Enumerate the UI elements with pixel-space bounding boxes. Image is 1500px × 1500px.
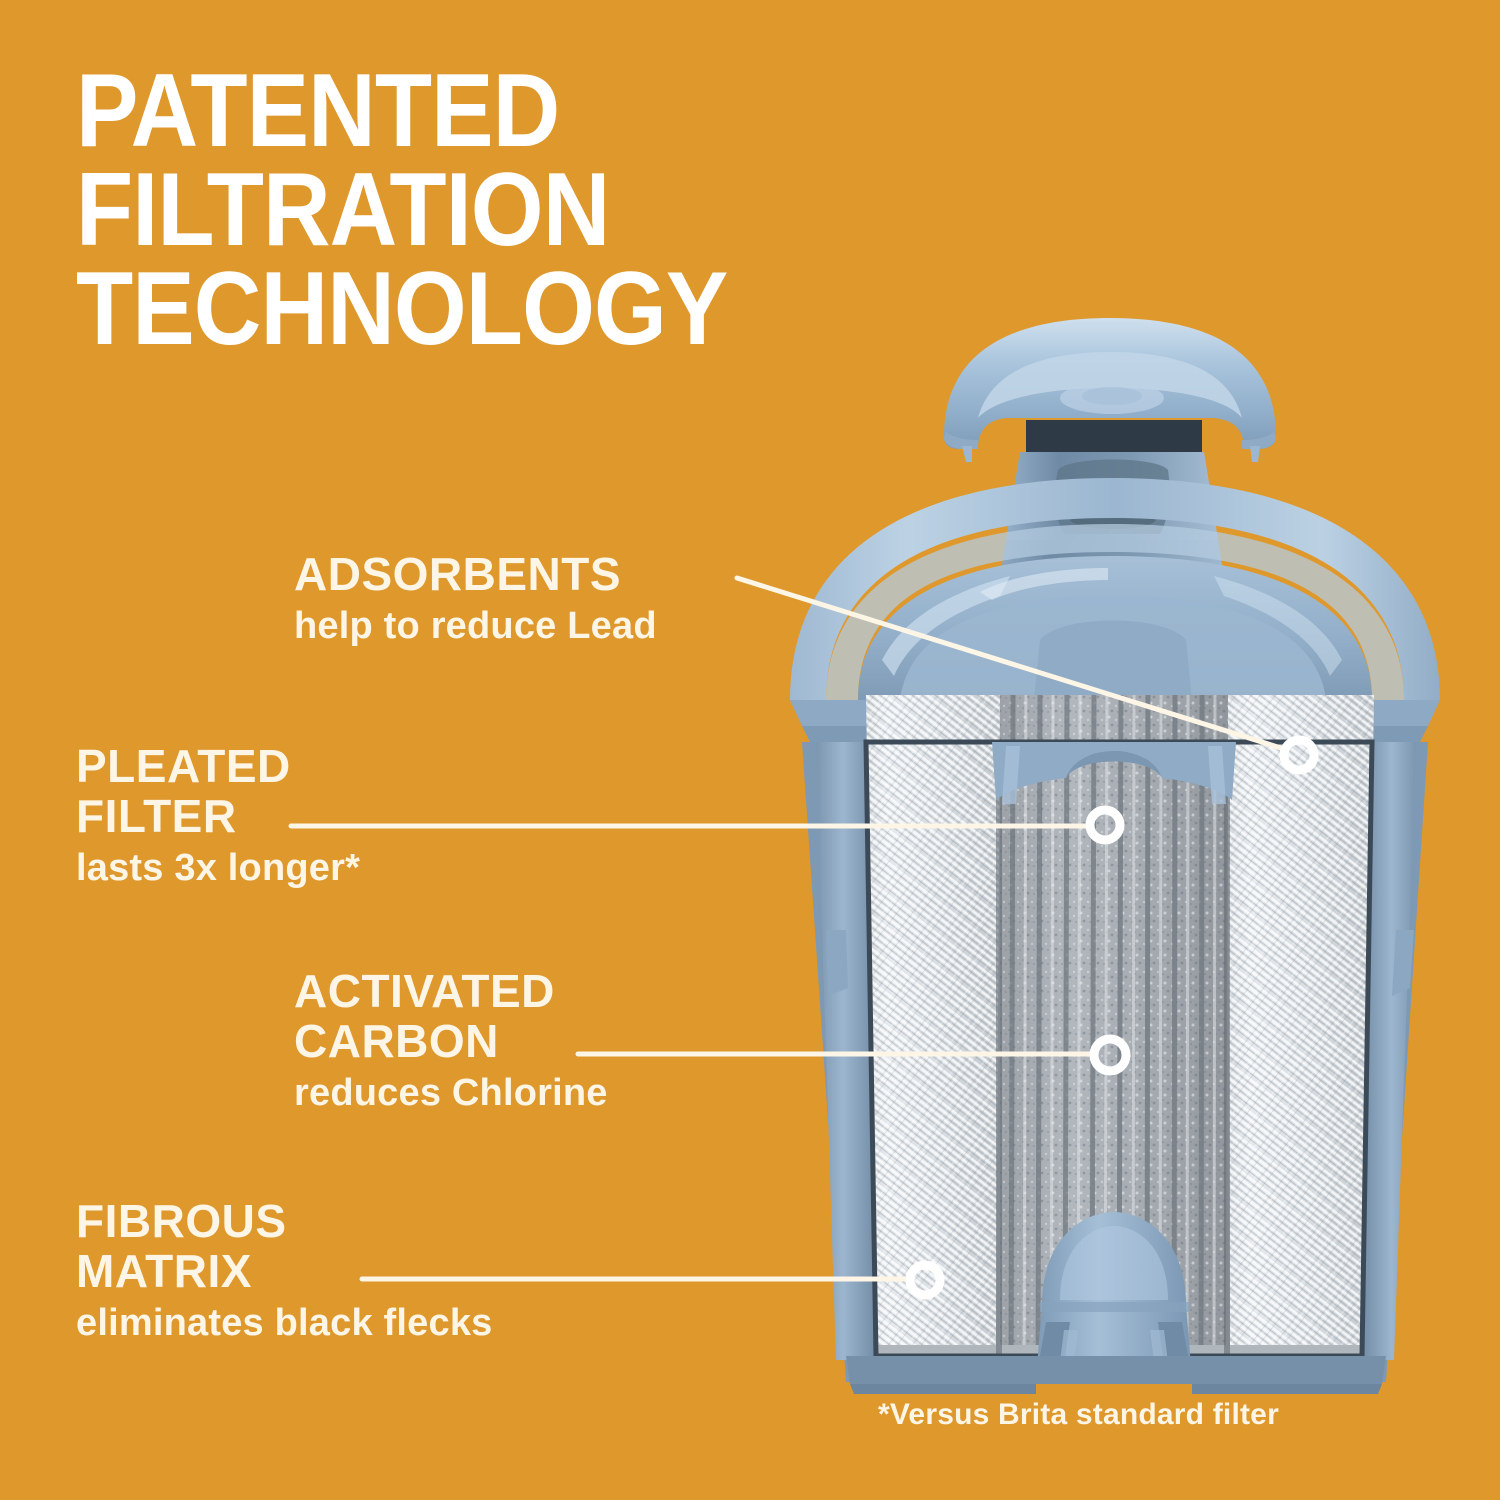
- callout-fibrous-matrix: FIBROUS MATRIX eliminates black flecks: [76, 1196, 493, 1346]
- callout-activated-carbon-heading-line-2: CARBON: [294, 1016, 608, 1066]
- callout-pleated-filter-subtitle: lasts 3x longer*: [76, 845, 360, 891]
- callout-pleated-filter-heading-line-1: PLEATED: [76, 741, 360, 791]
- callout-pleated-filter-heading-line-2: FILTER: [76, 791, 360, 841]
- callout-pleated-filter: PLEATED FILTER lasts 3x longer*: [76, 741, 360, 891]
- footnote: *Versus Brita standard filter: [878, 1398, 1279, 1432]
- filter-body: [802, 690, 1428, 1394]
- callout-adsorbents-subtitle: help to reduce Lead: [294, 603, 657, 649]
- fibrous-matrix-left: [860, 690, 1010, 1370]
- fibrous-matrix-right: [1220, 690, 1385, 1370]
- page-title-line-2: FILTRATION: [76, 161, 886, 260]
- callout-fibrous-matrix-heading-line-2: MATRIX: [76, 1246, 493, 1296]
- page-title-line-1: PATENTED: [76, 62, 886, 161]
- callout-activated-carbon-subtitle: reduces Chlorine: [294, 1070, 608, 1116]
- callout-adsorbents: ADSORBENTS help to reduce Lead: [294, 549, 657, 649]
- infographic-canvas: PATENTED FILTRATION TECHNOLOGY ADSORBENT…: [0, 0, 1500, 1500]
- page-title-line-3: TECHNOLOGY: [76, 260, 886, 359]
- callout-fibrous-matrix-subtitle: eliminates black flecks: [76, 1300, 493, 1346]
- callout-activated-carbon: ACTIVATED CARBON reduces Chlorine: [294, 966, 608, 1116]
- callout-fibrous-matrix-heading-line-1: FIBROUS: [76, 1196, 493, 1246]
- page-title: PATENTED FILTRATION TECHNOLOGY: [76, 62, 886, 359]
- callout-activated-carbon-heading-line-1: ACTIVATED: [294, 966, 608, 1016]
- callout-adsorbents-heading: ADSORBENTS: [294, 549, 657, 599]
